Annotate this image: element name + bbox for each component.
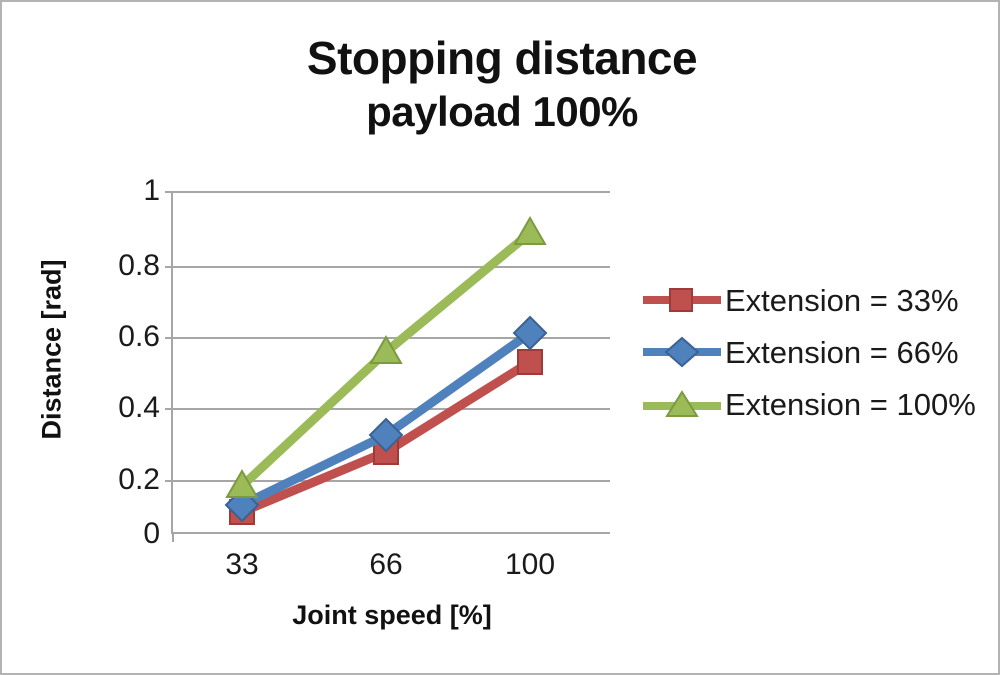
y-tick-label-1: 1: [143, 176, 160, 206]
y-tick-label-0: 0: [143, 519, 160, 549]
legend-label-extension-66: Extension = 66%: [725, 337, 959, 368]
plot-area: [172, 191, 610, 534]
legend-swatch-extension-100: [643, 387, 721, 421]
x-tick-label-66: 66: [369, 550, 402, 580]
chart-legend: Extension = 33% Extension = 66% Extensio…: [643, 274, 993, 430]
legend-item-extension-66[interactable]: Extension = 66%: [643, 326, 993, 378]
series-layer: [172, 191, 610, 534]
x-axis-tick-labels: 33 66 100: [172, 550, 610, 590]
legend-item-extension-100[interactable]: Extension = 100%: [643, 378, 993, 430]
x-tick-label-100: 100: [505, 550, 555, 580]
legend-swatch-extension-33: [643, 283, 721, 317]
y-tick-mark-0-4: [165, 408, 172, 410]
chart-title-line-2: payload 100%: [2, 86, 1000, 137]
legend-item-extension-33[interactable]: Extension = 33%: [643, 274, 993, 326]
y-tick-label-0-6: 0.6: [118, 322, 160, 352]
y-tick-mark-0-2: [165, 480, 172, 482]
y-tick-mark-0-6: [165, 337, 172, 339]
chart-title-line-1: Stopping distance: [2, 30, 1000, 86]
chart-figure: Stopping distance payload 100% Distance …: [0, 0, 1000, 675]
chart-title: Stopping distance payload 100%: [2, 30, 1000, 137]
legend-label-extension-33: Extension = 33%: [725, 285, 959, 316]
x-tick-mark-origin: [172, 534, 174, 542]
x-tick-label-33: 33: [225, 550, 258, 580]
x-axis-title: Joint speed [%]: [132, 600, 652, 631]
square-marker-icon: [518, 350, 542, 374]
legend-label-extension-100: Extension = 100%: [725, 389, 976, 420]
y-axis-tick-labels: 0 0.2 0.4 0.6 0.8 1: [42, 191, 160, 534]
y-tick-label-0-2: 0.2: [118, 465, 160, 495]
y-tick-mark-0-8: [165, 266, 172, 268]
y-tick-mark-1-0: [165, 191, 172, 193]
y-tick-label-0-4: 0.4: [118, 393, 160, 423]
triangle-marker-icon: [515, 218, 545, 244]
y-tick-label-0-8: 0.8: [118, 251, 160, 281]
legend-swatch-extension-66: [643, 335, 721, 369]
